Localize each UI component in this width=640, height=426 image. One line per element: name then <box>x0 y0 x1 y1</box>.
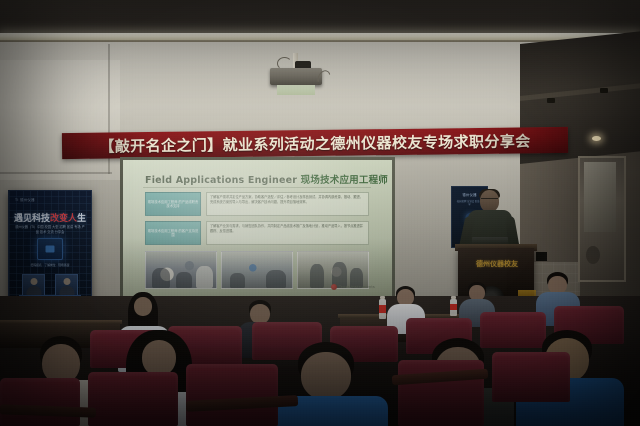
auditorium-seat <box>480 312 546 348</box>
poster-headline-highlight: 改变人 <box>50 214 77 224</box>
rollup-poster: TI 德州仪器 遇见科技改变人生 德州仪器（TI）中国 校园 大型 招聘 宣讲 … <box>8 190 92 310</box>
podium-inscription: 德州仪器校友 <box>470 258 524 270</box>
projector-light-beam <box>277 85 315 95</box>
poster-top-label: TI 德州仪器 <box>15 197 35 202</box>
auditorium-seat <box>0 378 80 426</box>
poster-portraits <box>17 274 83 296</box>
recessed-downlight <box>592 136 601 141</box>
podium-inscription-text: 德州仪器校友 <box>476 259 518 269</box>
lecture-hall-photo: 【敲开名企之门】就业系列活动之德州仪器校友专场求职分享会 Field Appli… <box>0 0 640 426</box>
speaker-glasses <box>481 198 498 203</box>
wall-seam <box>0 172 112 174</box>
desk-edge <box>0 320 122 324</box>
poster-headline-main: 遇见科技 <box>14 214 50 224</box>
door-glass-panel <box>584 162 616 232</box>
auditorium-seat <box>186 364 278 426</box>
poster-portrait <box>55 274 78 296</box>
microchip-icon <box>37 238 63 260</box>
projector-cable <box>277 57 292 70</box>
bottle-cap <box>451 296 456 299</box>
chip-core <box>46 246 55 253</box>
projection-screen: Field Applications Engineer 现场技术应用工程师 现场… <box>123 160 392 302</box>
poster-lines: 扫码报名 · 了解岗位 · 现场答疑 <box>15 263 85 267</box>
auditorium-seat <box>88 372 178 426</box>
ceiling-light-strip <box>0 33 640 40</box>
projector-icon <box>270 68 322 85</box>
screen-vignette <box>123 160 392 302</box>
door-knob[interactable] <box>586 246 600 264</box>
auditorium-seat <box>492 352 570 402</box>
bottle-label <box>450 304 457 310</box>
ceiling-vent <box>547 98 555 103</box>
poster-headline-tail: 生 <box>77 214 86 224</box>
wall-mounted-box <box>536 252 547 261</box>
poster-portrait <box>22 274 45 296</box>
ceiling-vent <box>600 88 608 93</box>
ceiling <box>0 0 640 34</box>
bottle-cap <box>380 296 385 299</box>
poster-headline: 遇见科技改变人生 <box>9 211 91 224</box>
wall-panel-left <box>0 60 120 180</box>
poster-subtitle: 德州仪器（TI）中国 校园 大型 招聘 宣讲 专场 产品 技术 交流 分享会 <box>14 225 86 234</box>
